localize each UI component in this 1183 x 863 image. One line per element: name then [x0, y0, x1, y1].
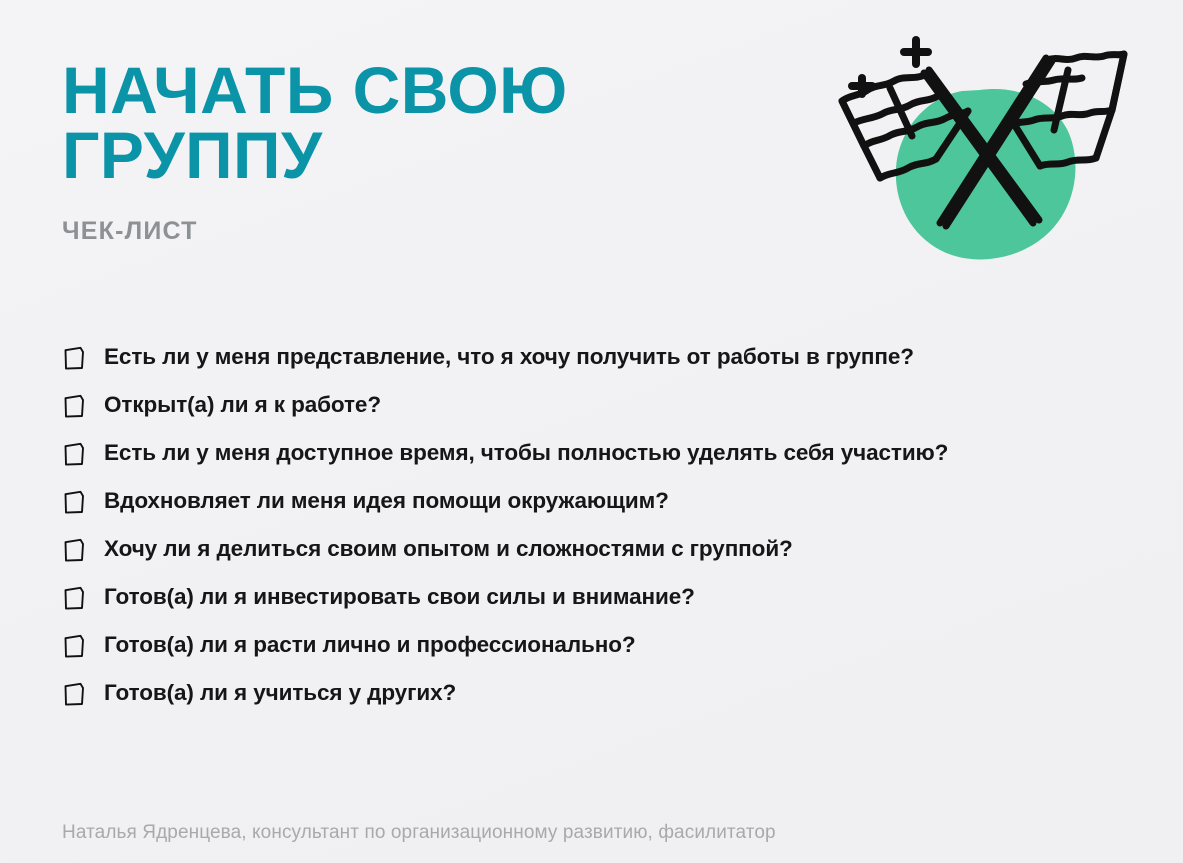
- checkbox-icon[interactable]: [62, 633, 86, 659]
- list-item-label: Готов(а) ли я расти лично и профессионал…: [104, 633, 636, 658]
- checklist-poster: НАЧАТЬ СВОЮ ГРУППУ ЧЕК-ЛИСТ: [0, 0, 1183, 863]
- checkbox-icon[interactable]: [62, 345, 86, 371]
- checkbox-icon[interactable]: [62, 489, 86, 515]
- page-title: НАЧАТЬ СВОЮ ГРУППУ: [62, 58, 802, 187]
- list-item-label: Есть ли у меня доступное время, чтобы по…: [104, 441, 948, 466]
- list-item-label: Хочу ли я делиться своим опытом и сложно…: [104, 537, 793, 562]
- checkbox-icon[interactable]: [62, 537, 86, 563]
- checkbox-icon[interactable]: [62, 441, 86, 467]
- list-item[interactable]: Есть ли у меня представление, что я хочу…: [62, 333, 1167, 381]
- checkbox-icon[interactable]: [62, 585, 86, 611]
- list-item[interactable]: Открыт(а) ли я к работе?: [62, 381, 1167, 429]
- list-item[interactable]: Есть ли у меня доступное время, чтобы по…: [62, 429, 1167, 477]
- page-subtitle: ЧЕК-ЛИСТ: [62, 217, 802, 246]
- crossed-flags-illustration: [828, 18, 1138, 280]
- list-item[interactable]: Хочу ли я делиться своим опытом и сложно…: [62, 525, 1167, 573]
- checkbox-icon[interactable]: [62, 393, 86, 419]
- footer-credit: Наталья Ядренцева, консультант по органи…: [62, 822, 776, 844]
- header: НАЧАТЬ СВОЮ ГРУППУ ЧЕК-ЛИСТ: [62, 58, 802, 246]
- list-item[interactable]: Готов(а) ли я учиться у других?: [62, 669, 1167, 717]
- checkbox-icon[interactable]: [62, 681, 86, 707]
- list-item[interactable]: Готов(а) ли я инвестировать свои силы и …: [62, 573, 1167, 621]
- list-item-label: Есть ли у меня представление, что я хочу…: [104, 345, 914, 370]
- list-item[interactable]: Готов(а) ли я расти лично и профессионал…: [62, 621, 1167, 669]
- list-item-label: Готов(а) ли я учиться у других?: [104, 681, 456, 706]
- list-item[interactable]: Вдохновляет ли меня идея помощи окружающ…: [62, 477, 1167, 525]
- list-item-label: Готов(а) ли я инвестировать свои силы и …: [104, 585, 695, 610]
- list-item-label: Вдохновляет ли меня идея помощи окружающ…: [104, 489, 669, 514]
- list-item-label: Открыт(а) ли я к работе?: [104, 393, 381, 418]
- checklist: Есть ли у меня представление, что я хочу…: [62, 333, 1167, 717]
